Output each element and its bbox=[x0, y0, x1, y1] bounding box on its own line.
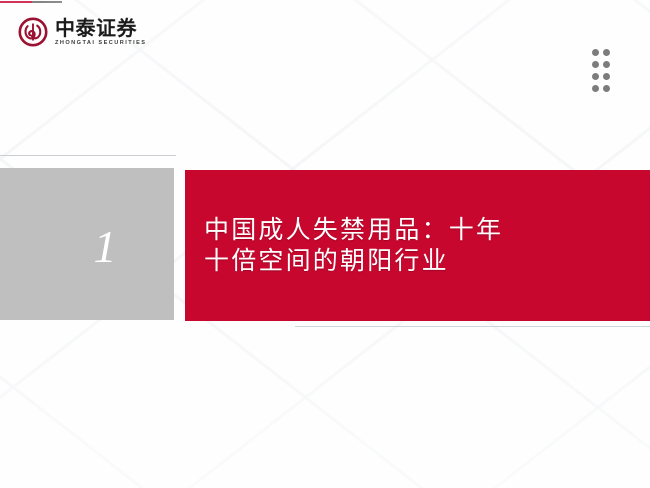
dot bbox=[592, 49, 599, 56]
dot bbox=[592, 85, 599, 92]
dot-grid-icon bbox=[592, 49, 614, 97]
divider-below-title-banner bbox=[295, 326, 650, 327]
section-title-banner: 中国成人失禁用品：十年 十倍空间的朝阳行业 bbox=[185, 170, 650, 321]
presentation-slide: 中泰证券 ZHONGTAI SECURITIES 1 中国成人失禁用品：十年 十… bbox=[0, 0, 650, 488]
brand-name-cn: 中泰证券 bbox=[55, 18, 146, 38]
section-number: 1 bbox=[94, 220, 117, 273]
brand-logo-text: 中泰证券 ZHONGTAI SECURITIES bbox=[55, 18, 146, 47]
top-accent-rule bbox=[0, 1, 62, 3]
dot bbox=[603, 85, 610, 92]
section-title-line-2: 十倍空间的朝阳行业 bbox=[204, 245, 640, 276]
brand-name-en: ZHONGTAI SECURITIES bbox=[55, 41, 146, 47]
dot bbox=[592, 61, 599, 68]
dot bbox=[603, 49, 610, 56]
zhongtai-circle-emblem-icon bbox=[18, 17, 48, 47]
section-title: 中国成人失禁用品：十年 十倍空间的朝阳行业 bbox=[204, 214, 640, 276]
dot bbox=[592, 73, 599, 80]
dot bbox=[603, 61, 610, 68]
dot bbox=[603, 73, 610, 80]
divider-above-section-number bbox=[0, 155, 176, 156]
section-title-line-1: 中国成人失禁用品：十年 bbox=[204, 214, 640, 245]
brand-logo: 中泰证券 ZHONGTAI SECURITIES bbox=[18, 17, 146, 47]
section-number-block: 1 bbox=[0, 168, 174, 320]
